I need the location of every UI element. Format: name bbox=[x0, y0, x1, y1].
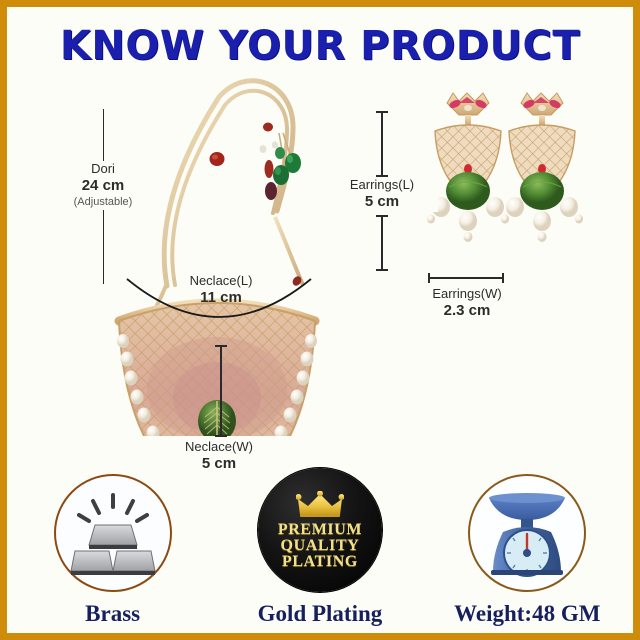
brass-ingots-icon bbox=[65, 487, 161, 579]
seal-line-2: QUALITY bbox=[281, 538, 360, 554]
badge-row: Brass bbox=[9, 451, 631, 627]
dimension-label-dori: Dori 24 cm (Adjustable) bbox=[53, 161, 153, 210]
brass-badge-circle bbox=[54, 474, 172, 592]
badge-brass: Brass bbox=[18, 474, 208, 627]
weighing-scale-icon bbox=[481, 486, 573, 580]
page-title: KNOW YOUR PRODUCT bbox=[9, 23, 631, 69]
dori-note: (Adjustable) bbox=[53, 196, 153, 210]
necklace-width-measure-line bbox=[220, 345, 222, 437]
weight-badge-circle bbox=[468, 474, 586, 592]
crown-icon bbox=[296, 491, 344, 519]
dimension-label-earrings-length: Earrings(L) 5 cm bbox=[326, 177, 438, 212]
dori-measure-line-top bbox=[103, 109, 104, 161]
necklace-width-value: 5 cm bbox=[159, 455, 279, 474]
badge-brass-caption: Brass bbox=[85, 601, 140, 627]
seal-line-1: PREMIUM bbox=[278, 522, 362, 538]
earrings-width-value: 2.3 cm bbox=[407, 302, 527, 321]
necklace-width-label: Neclace(W) bbox=[159, 439, 279, 455]
necklace-artwork bbox=[97, 71, 337, 436]
dimension-label-necklace-length: Neclace(L) 11 cm bbox=[161, 273, 281, 308]
product-infographic: KNOW YOUR PRODUCT bbox=[0, 0, 640, 640]
earrings-length-value: 5 cm bbox=[326, 193, 438, 212]
inner-frame: KNOW YOUR PRODUCT bbox=[7, 7, 633, 633]
earrings-length-measure-line-bottom bbox=[381, 215, 383, 271]
badge-weight: Weight:48 GM bbox=[432, 474, 622, 627]
earrings-length-measure-line-top bbox=[381, 111, 383, 177]
badge-gold-plating: PREMIUM QUALITY PLATING Gold Plating bbox=[225, 468, 415, 627]
dimension-label-necklace-width: Neclace(W) 5 cm bbox=[159, 439, 279, 474]
gold-plating-seal: PREMIUM QUALITY PLATING bbox=[258, 468, 382, 592]
badge-gold-plating-caption: Gold Plating bbox=[258, 601, 383, 627]
gold-plating-seal-text: PREMIUM QUALITY PLATING bbox=[278, 491, 362, 570]
necklace-length-value: 11 cm bbox=[161, 289, 281, 308]
dimension-label-earrings-width: Earrings(W) 2.3 cm bbox=[407, 286, 527, 321]
badge-weight-caption: Weight:48 GM bbox=[454, 601, 600, 627]
dori-value: 24 cm bbox=[53, 177, 153, 196]
earrings-artwork bbox=[419, 91, 589, 271]
dori-label: Dori bbox=[53, 161, 153, 177]
necklace-length-label: Neclace(L) bbox=[161, 273, 281, 289]
earrings-width-measure-line bbox=[428, 277, 504, 279]
earrings-length-label: Earrings(L) bbox=[326, 177, 438, 193]
dori-measure-line-bottom bbox=[103, 209, 104, 284]
earrings-width-label: Earrings(W) bbox=[407, 286, 527, 302]
seal-line-3: PLATING bbox=[282, 554, 358, 570]
